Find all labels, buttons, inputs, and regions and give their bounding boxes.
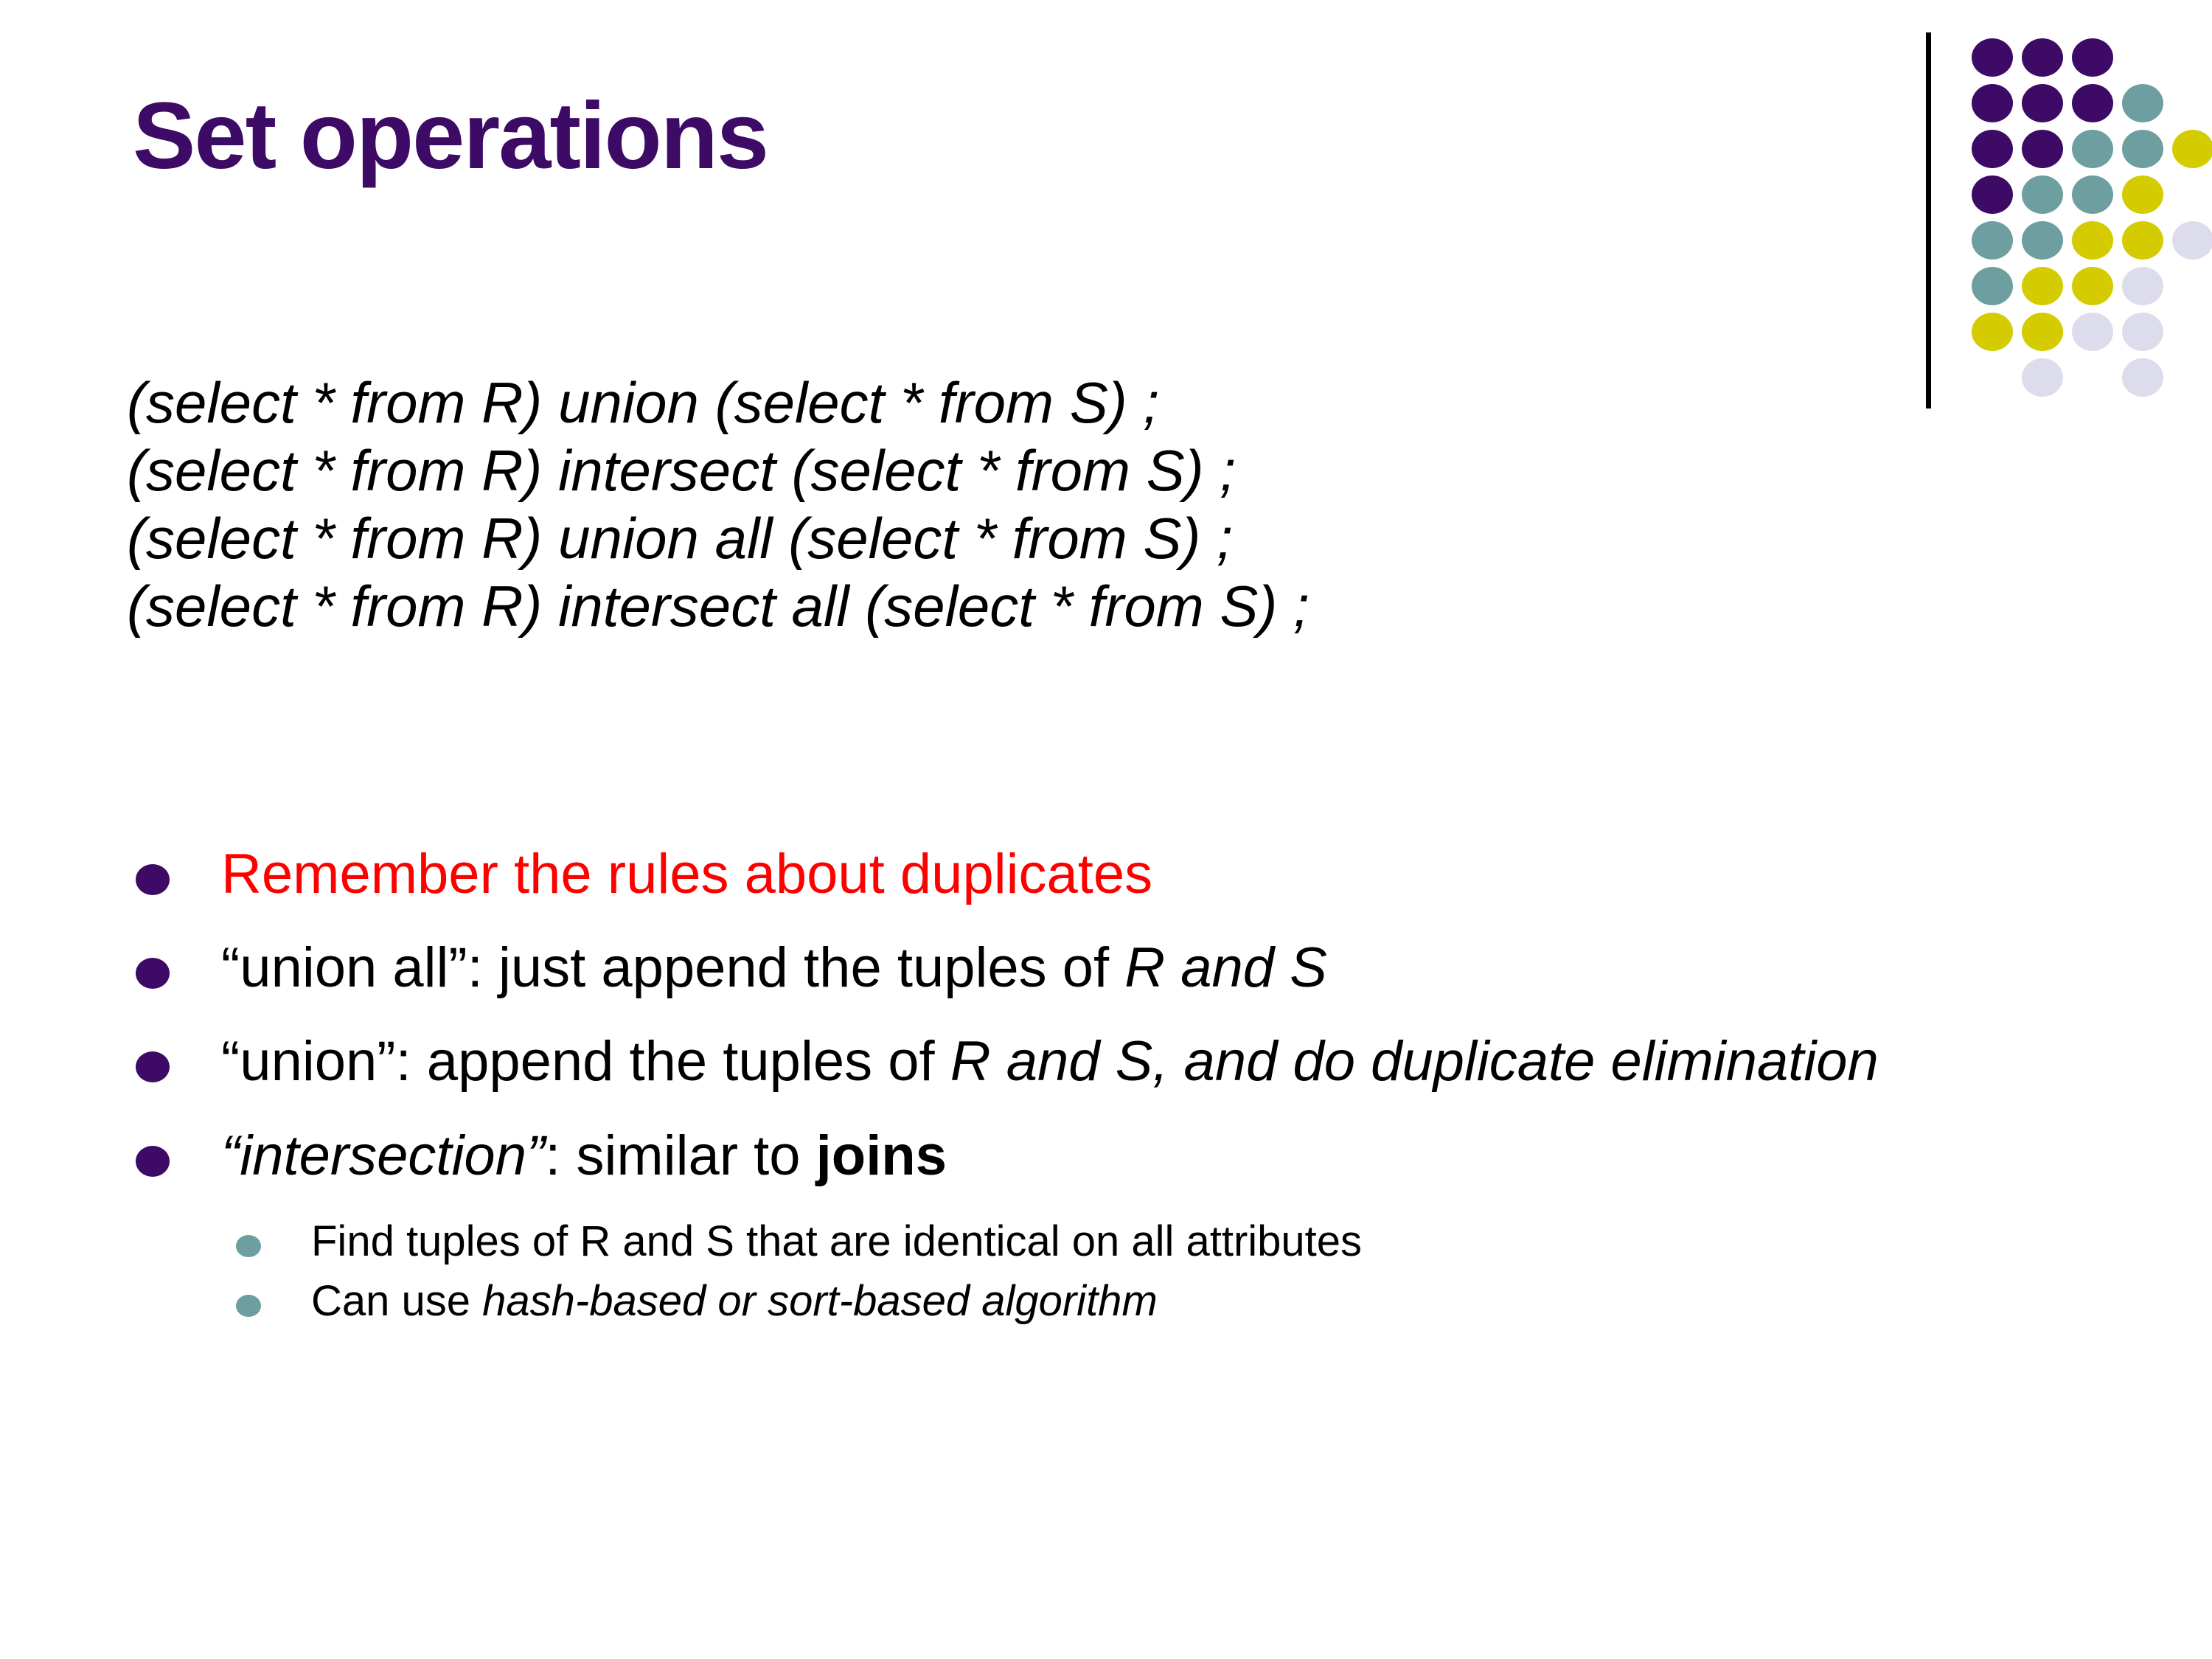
bullet-list: Remember the rules about duplicates“unio… [127,841,2118,1335]
bullet-text-run: : similar to [545,1124,815,1187]
circle-icon [1972,267,2013,305]
circle-icon [2022,221,2063,260]
logo-dot-empty [2070,357,2121,403]
logo-dot-purple [2020,83,2070,128]
sql-statement-line: (select * from R) union all (select * fr… [127,504,1310,572]
sql-statement-line: (select * from R) intersect (select * fr… [127,437,1310,504]
bullet-text: Can use hash-based or sort-based algorit… [311,1276,2118,1328]
logo-dot-purple [2070,37,2121,83]
logo-dot-teal [2070,128,2121,174]
circle-icon [2122,313,2163,351]
logo-dot-yellow [2121,220,2171,265]
logo-dot-lavender [2070,311,2121,357]
slide-title: Set operations [133,87,768,186]
logo-dot-yellow [1970,311,2020,357]
logo-dot-empty [2171,357,2212,403]
logo-dot-purple [2020,128,2070,174]
sub-bullet-marker-icon [236,1235,261,1257]
bullet-text-run: “union all”: just append the tuples of [221,936,1124,999]
circle-icon [1972,221,2013,260]
sub-bullet-marker-icon [236,1295,261,1317]
logo-dot-empty [2171,83,2212,128]
circle-icon [2122,130,2163,168]
logo-dot-empty [2171,311,2212,357]
logo-dot-empty [2171,174,2212,220]
logo-dot-lavender [2020,357,2070,403]
circle-icon [2022,175,2063,214]
logo-dot-purple [2020,37,2070,83]
logo-dot-empty [2121,37,2171,83]
circle-icon [2122,84,2163,122]
logo-decoration [1917,22,2197,413]
logo-dot-purple [1970,174,2020,220]
circle-icon [2072,175,2113,214]
bullet-item: “intersection”: similar to joins [127,1122,2118,1189]
logo-dot-teal [2020,174,2070,220]
logo-dot-empty [2171,37,2212,83]
bullet-item: “union all”: just append the tuples of R… [127,934,2118,1001]
circle-icon [2022,358,2063,397]
logo-dot-teal [2070,174,2121,220]
circle-icon [2072,84,2113,122]
bullet-text-run: R and S, and do duplicate elimination [950,1030,1879,1093]
circle-icon [2022,38,2063,77]
circle-icon [2122,267,2163,305]
bullet-text-run: R and S [1124,936,1327,999]
logo-dot-yellow [2070,220,2121,265]
circle-icon [2072,38,2113,77]
circle-icon [2072,221,2113,260]
circle-icon [2122,221,2163,260]
logo-dot-lavender [2121,265,2171,311]
circle-icon [2172,130,2212,168]
circle-icon [1972,175,2013,214]
logo-dot-yellow [2020,265,2070,311]
logo-dot-teal [1970,220,2020,265]
logo-dot-empty [1970,357,2020,403]
circle-icon [2172,221,2212,260]
vertical-rule-divider [1926,32,1931,408]
bullet-text-run: joins [816,1124,947,1187]
circle-icon [2122,358,2163,397]
logo-dot-teal [2121,128,2171,174]
circle-icon [2022,84,2063,122]
sql-statement-line: (select * from R) union (select * from S… [127,369,1310,437]
sql-statements-block: (select * from R) union (select * from S… [127,369,1310,640]
bullet-marker-icon [136,1051,170,1082]
logo-dot-lavender [2121,311,2171,357]
bullet-text-run: Can use [311,1277,482,1325]
logo-dot-teal [2121,83,2171,128]
bullet-text-run: Find tuples of R and S that are identica… [311,1217,1362,1265]
circle-icon [2072,313,2113,351]
logo-dot-yellow [2121,174,2171,220]
logo-dot-yellow [2171,128,2212,174]
slide-canvas: Set operations (select * from R) union (… [0,0,2212,1659]
bullet-text-run: “union”: append the tuples of [221,1030,950,1093]
logo-dot-purple [1970,128,2020,174]
circle-icon [2072,267,2113,305]
logo-dot-yellow [2020,311,2070,357]
bullet-marker-icon [136,1146,170,1177]
circle-icon [1972,84,2013,122]
bullet-text: “union all”: just append the tuples of R… [221,934,2118,1001]
bullet-text: Find tuples of R and S that are identica… [311,1216,2118,1268]
logo-dot-teal [1970,265,2020,311]
circle-icon [2072,130,2113,168]
logo-dot-lavender [2171,220,2212,265]
sub-bullet-item: Find tuples of R and S that are identica… [127,1216,2118,1268]
bullet-marker-icon [136,958,170,989]
sub-bullet-item: Can use hash-based or sort-based algorit… [127,1276,2118,1328]
bullet-text-run: Remember the rules about duplicates [221,843,1152,905]
logo-dot-purple [2070,83,2121,128]
bullet-text-run: “intersection” [221,1124,545,1187]
circle-icon [1972,313,2013,351]
circle-icon [2022,130,2063,168]
circle-icon [2022,313,2063,351]
logo-dot-purple [1970,83,2020,128]
circle-icon [2022,267,2063,305]
bullet-text: Remember the rules about duplicates [221,841,2118,908]
bullet-text-run: hash-based or sort-based algorithm [482,1277,1158,1325]
logo-dot-yellow [2070,265,2121,311]
bullet-text: “union”: append the tuples of R and S, a… [221,1028,2118,1095]
circle-icon [1972,38,2013,77]
bullet-item: Remember the rules about duplicates [127,841,2118,908]
logo-dot-empty [2171,265,2212,311]
bullet-item: “union”: append the tuples of R and S, a… [127,1028,2118,1095]
sql-statement-line: (select * from R) intersect all (select … [127,572,1310,640]
bullet-marker-icon [136,864,170,895]
logo-dot-purple [1970,37,2020,83]
logo-dot-lavender [2121,357,2171,403]
circle-icon [1972,130,2013,168]
dot-grid-logo-icon [1970,37,2212,403]
bullet-text: “intersection”: similar to joins [221,1122,2118,1189]
circle-icon [2122,175,2163,214]
logo-dot-teal [2020,220,2070,265]
